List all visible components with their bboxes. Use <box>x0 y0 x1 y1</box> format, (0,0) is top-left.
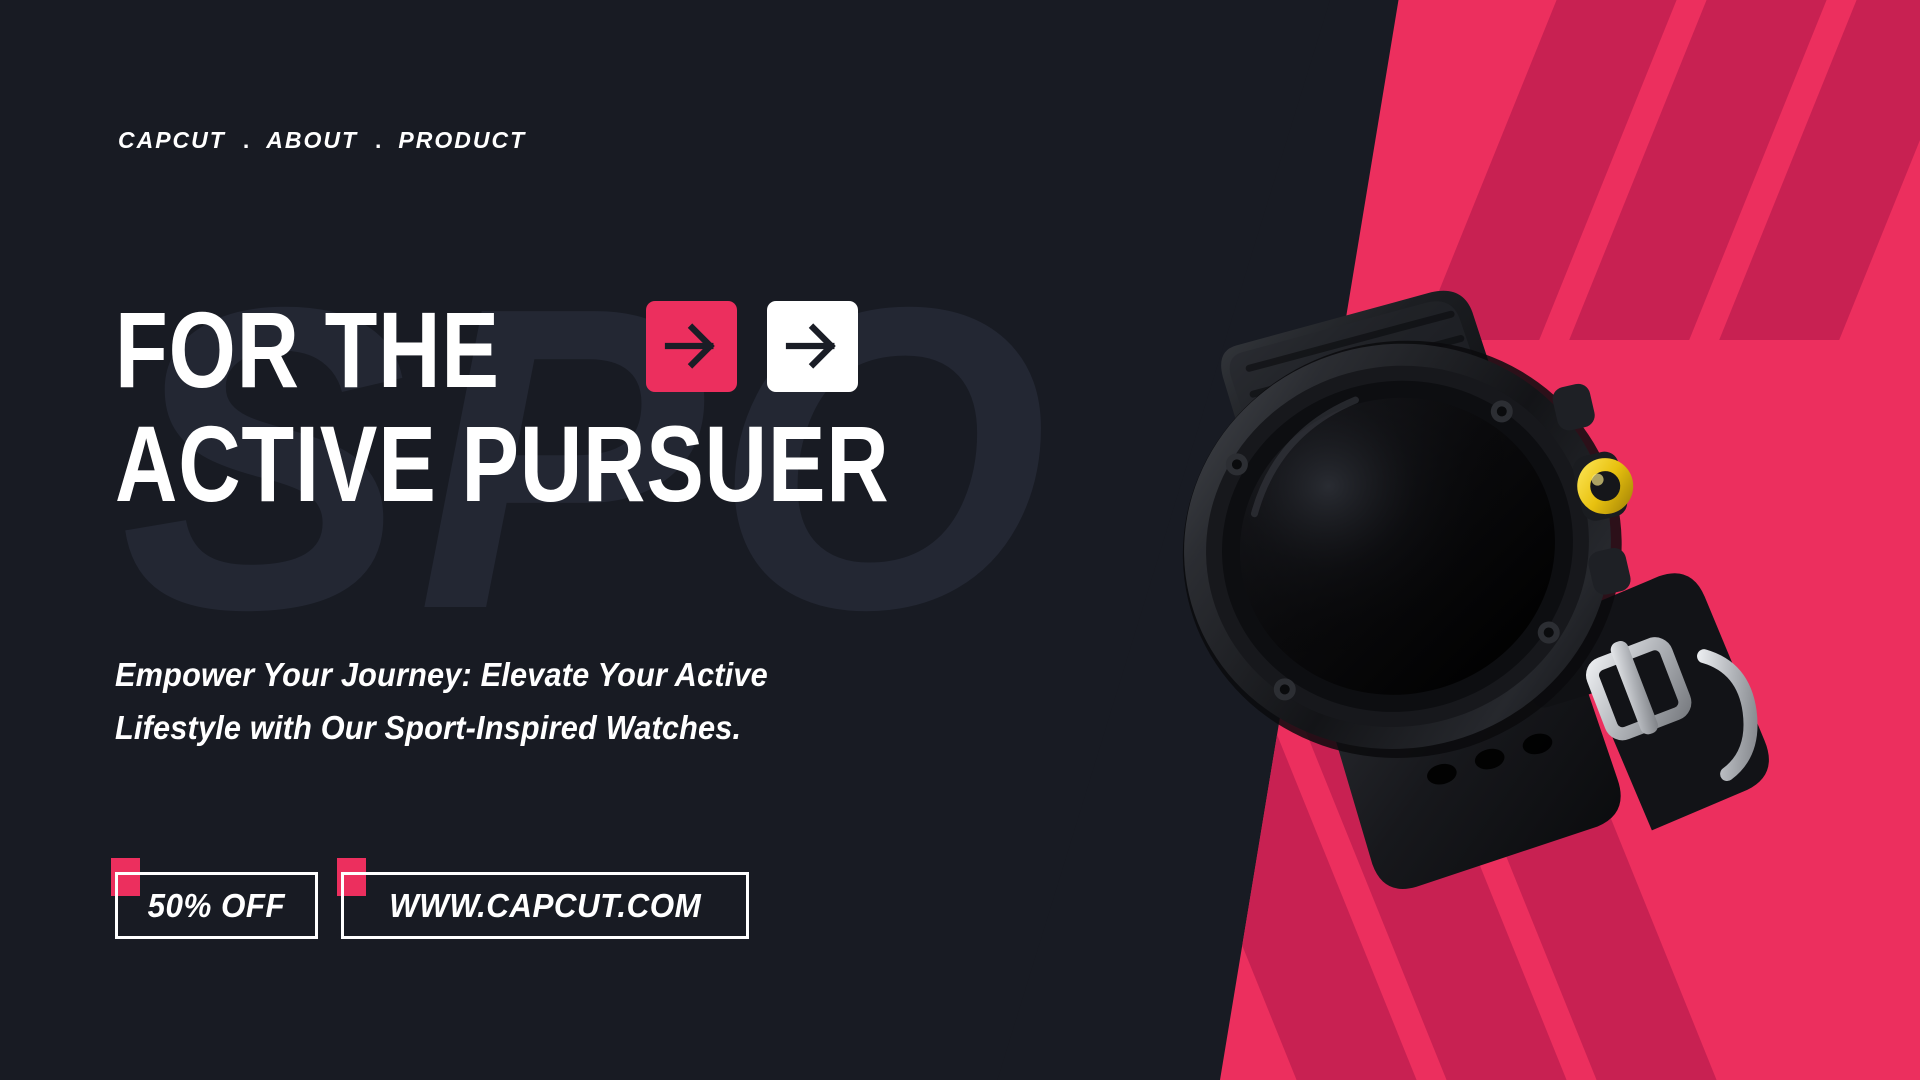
headline-row-1: FOR THE <box>115 300 1083 400</box>
cta-arrow-secondary-button[interactable] <box>767 301 858 392</box>
promo-banner: SPO CAPCUT . ABOUT . PRODUCT FOR THE <box>0 0 1920 1080</box>
subtitle-line-2: Lifestyle with Our Sport-Inspired Watche… <box>115 701 768 754</box>
nav-item-capcut[interactable]: CAPCUT <box>118 127 226 154</box>
arrow-right-icon <box>662 317 720 375</box>
website-badge-wrapper: WWW.CAPCUT.COM <box>341 872 749 939</box>
nav-separator-1: . <box>226 127 266 154</box>
nav-item-about[interactable]: ABOUT <box>266 127 358 154</box>
website-badge-label: WWW.CAPCUT.COM <box>389 887 701 925</box>
offer-badge-label: 50% OFF <box>148 887 285 925</box>
headline-line-1: FOR THE <box>115 300 500 400</box>
subtitle-line-1: Empower Your Journey: Elevate Your Activ… <box>115 648 768 701</box>
cta-badge-group: 50% OFF WWW.CAPCUT.COM <box>115 872 749 939</box>
offer-badge-wrapper: 50% OFF <box>115 872 318 939</box>
nav-item-product[interactable]: PRODUCT <box>398 127 526 154</box>
offer-badge[interactable]: 50% OFF <box>115 872 318 939</box>
arrow-right-icon <box>783 317 841 375</box>
hero-subtitle: Empower Your Journey: Elevate Your Activ… <box>115 648 768 755</box>
top-navigation: CAPCUT . ABOUT . PRODUCT <box>118 127 526 154</box>
cta-arrow-group <box>646 301 858 392</box>
nav-separator-2: . <box>358 127 398 154</box>
website-badge[interactable]: WWW.CAPCUT.COM <box>341 872 749 939</box>
headline-line-2: ACTIVE PURSUER <box>115 414 890 514</box>
hero-headline: FOR THE ACTIVE PURSUER <box>115 300 1083 515</box>
cta-arrow-primary-button[interactable] <box>646 301 737 392</box>
smartwatch-illustration <box>1090 175 1770 915</box>
product-image-smartwatch <box>1090 175 1770 915</box>
